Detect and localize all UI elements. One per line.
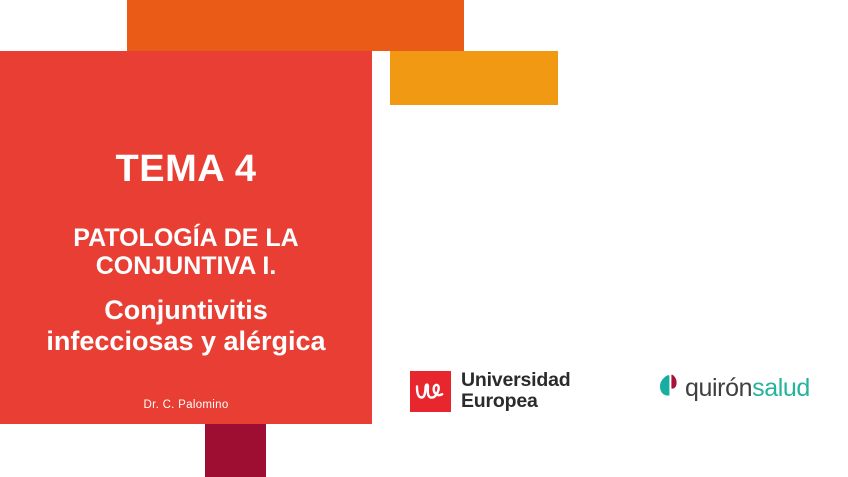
decorative-block-maroon <box>205 424 266 477</box>
subtitle-primary-line-2: CONJUNTIVA I. <box>26 252 346 280</box>
universidad-europea-logo: Universidad Europea <box>410 370 570 412</box>
author-byline: Dr. C. Palomino <box>143 399 228 411</box>
subtitle-secondary: Conjuntivitis infecciosas y alérgica <box>16 295 356 355</box>
ue-wordmark-line-2: Europea <box>461 391 570 412</box>
subtitle-secondary-line-2: infecciosas y alérgica <box>16 326 356 356</box>
quironsalud-leaf-icon <box>658 373 684 403</box>
decorative-block-amber <box>390 51 558 105</box>
quironsalud-word-part-1: quirón <box>685 374 752 402</box>
quironsalud-logo: quirónsalud <box>658 373 810 403</box>
presentation-slide: TEMA 4 PATOLOGÍA DE LA CONJUNTIVA I. Con… <box>0 0 848 477</box>
subtitle-primary-line-1: PATOLOGÍA DE LA <box>26 224 346 252</box>
quironsalud-wordmark: quirónsalud <box>685 376 810 401</box>
quironsalud-word-part-2: salud <box>752 374 810 402</box>
subtitle-secondary-line-1: Conjuntivitis <box>16 295 356 325</box>
title-text-group: TEMA 4 PATOLOGÍA DE LA CONJUNTIVA I. Con… <box>0 51 372 424</box>
decorative-block-orange-top <box>127 0 464 51</box>
ue-monogram-icon <box>410 371 451 412</box>
ue-wordmark-line-1: Universidad <box>461 370 570 391</box>
subtitle-primary: PATOLOGÍA DE LA CONJUNTIVA I. <box>26 224 346 281</box>
ue-wordmark: Universidad Europea <box>461 370 570 412</box>
page-title: TEMA 4 <box>116 150 257 190</box>
